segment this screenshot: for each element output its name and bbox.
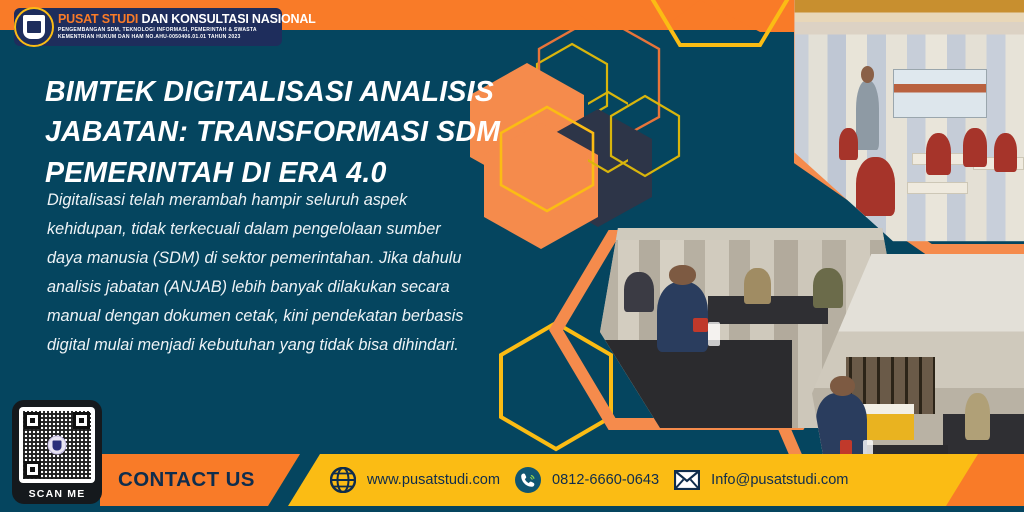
attendee-figure (965, 393, 990, 439)
contact-email[interactable]: Info@pusatstudi.com (674, 470, 848, 490)
table (912, 153, 968, 165)
globe-icon (330, 467, 356, 493)
desk (708, 296, 828, 324)
table-cloth (850, 404, 914, 417)
contact-phone[interactable]: 0812-6660-0643 (515, 467, 659, 493)
table (907, 182, 968, 194)
qr-finder-top-left (24, 412, 41, 429)
brand-name-part1: PUSAT STUDI (58, 12, 138, 26)
envelope-icon (674, 470, 700, 490)
attendee-figure (624, 272, 654, 312)
poster-canvas: PUSAT STUDI DAN KONSULTASI NASIONAL PENG… (0, 0, 1024, 512)
logo-badge-icon (48, 436, 67, 455)
attendee-figure (744, 268, 771, 304)
attendee-figure-foreground (657, 282, 708, 352)
qr-code-card[interactable]: SCAN ME (12, 400, 102, 504)
qr-finder-top-right (73, 412, 90, 429)
page-title: BIMTEK DIGITALISASI ANALISIS JABATAN: TR… (45, 72, 515, 193)
table (973, 157, 1024, 169)
attendee-figure (963, 128, 986, 167)
qr-finder-bottom-left (24, 461, 41, 478)
brand-subtitle-2: KEMENTRIAN HUKUM DAN HAM NO.AHU-0050406.… (58, 35, 316, 40)
projector-screen (893, 69, 987, 118)
shield-badge-icon (14, 7, 54, 47)
contact-footer: CONTACT US www.pusatstudi.com (0, 440, 1024, 512)
window-wall (846, 357, 935, 414)
table-skirt (850, 414, 914, 440)
cup (693, 318, 708, 332)
brand-logo-bar: PUSAT STUDI DAN KONSULTASI NASIONAL PENG… (14, 8, 282, 46)
presenter-figure (856, 81, 879, 150)
body-paragraph: Digitalisasi telah merambah hampir selur… (47, 186, 477, 360)
contact-us-label: CONTACT US (118, 468, 255, 492)
desk (600, 340, 792, 428)
hexagon-outline-yellow-large (497, 320, 615, 452)
attendee-figure (994, 133, 1017, 172)
drinking-glass (708, 322, 720, 346)
phone-text: 0812-6660-0643 (552, 472, 659, 488)
email-text: Info@pusatstudi.com (711, 472, 848, 488)
attendee-figure (839, 128, 858, 160)
brand-name: PUSAT STUDI DAN KONSULTASI NASIONAL (58, 13, 316, 26)
photo-b-background (600, 228, 900, 428)
attendee-figure (813, 268, 843, 308)
phone-icon (515, 467, 541, 493)
brand-subtitle-1: PENGEMBANGAN SDM, TEKNOLOGI INFORMASI, P… (58, 28, 316, 33)
website-text: www.pusatstudi.com (367, 472, 500, 488)
qr-code-image (19, 407, 95, 483)
brand-name-part2: DAN KONSULTASI NASIONAL (142, 12, 316, 26)
participants-desk-photo (600, 228, 900, 428)
attendee-figure (926, 133, 952, 175)
contact-website[interactable]: www.pusatstudi.com (330, 467, 500, 493)
qr-scan-label: SCAN ME (29, 488, 86, 500)
footer-contact-items: www.pusatstudi.com 0812-6660-0643 (330, 454, 848, 506)
hexagon-outline-yellow-edge (588, 90, 628, 174)
attendee-figure (856, 157, 896, 216)
